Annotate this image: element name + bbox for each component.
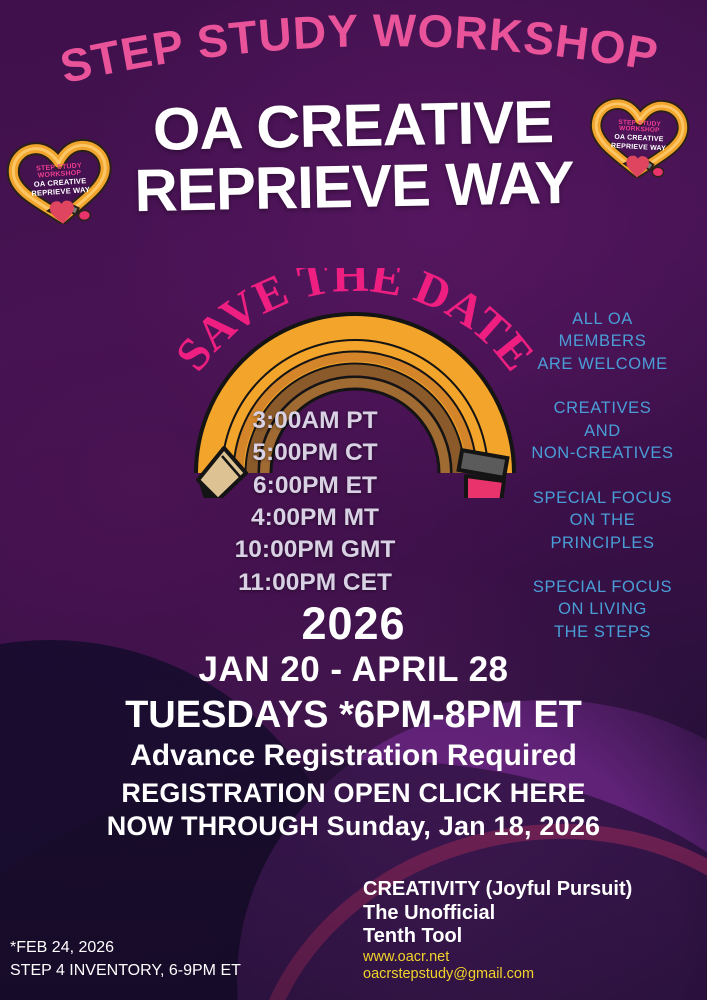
info-line: SPECIAL FOCUS (505, 576, 700, 598)
header-title-text: STEP STUDY WORKSHOP (55, 4, 662, 93)
registration-link[interactable]: REGISTRATION OPEN CLICK HERE (0, 777, 707, 809)
pencil-heart-logo-right-text: STEP STUDY WORKSHOP OA CREATIVE REPRIEVE… (587, 118, 690, 154)
info-block-welcome: ALL OA MEMBERS ARE WELCOME (505, 308, 700, 375)
creativity-tagline-line1: CREATIVITY (Joyful Pursuit) (363, 878, 632, 902)
info-block-principles: SPECIAL FOCUS ON THE PRINCIPLES (505, 487, 700, 554)
info-line: PRINCIPLES (505, 532, 700, 554)
info-line: MEMBERS (505, 330, 700, 352)
timezone-list: 3:00AM PT 5:00PM CT 6:00PM ET 4:00PM MT … (150, 405, 480, 599)
small-heart-icon (626, 155, 650, 178)
info-line: ARE WELCOME (505, 353, 700, 375)
pencil-heart-logo-right: STEP STUDY WORKSHOP OA CREATIVE REPRIEVE… (586, 93, 692, 180)
info-line: NON-CREATIVES (505, 442, 700, 464)
creativity-tagline-line2: The Unofficial (363, 902, 632, 926)
dates-block: 2026 JAN 20 - APRIL 28 TUESDAYS *6PM-8PM… (0, 600, 707, 842)
footnote-block: *FEB 24, 2026 STEP 4 INVENTORY, 6-9PM ET (10, 936, 241, 982)
footnote-line1: *FEB 24, 2026 (10, 936, 241, 959)
info-line: ON THE (505, 509, 700, 531)
contact-block: CREATIVITY (Joyful Pursuit) The Unoffici… (363, 878, 632, 984)
poster-canvas: STEP STUDY WORKSHOP OA CREATIVE REPRIEVE… (0, 0, 707, 1000)
timezone-item: 4:00PM MT (150, 502, 480, 534)
timezone-item: 10:00PM GMT (150, 534, 480, 566)
info-line: CREATIVES (505, 397, 700, 419)
email-link[interactable]: oacrstepstudy@gmail.com (363, 966, 632, 984)
pencil-heart-logo-left: STEP STUDY WORKSHOP OA CREATIVE REPRIEVE… (3, 134, 117, 227)
info-line: AND (505, 420, 700, 442)
timezone-item: 11:00PM CET (150, 567, 480, 599)
year-label: 2026 (0, 600, 707, 647)
advance-registration-label: Advance Registration Required (0, 738, 707, 774)
website-link[interactable]: www.oacr.net (363, 949, 632, 967)
weekday-time-label: TUESDAYS *6PM-8PM ET (0, 695, 707, 737)
timezone-item: 6:00PM ET (150, 470, 480, 502)
registration-deadline-label: NOW THROUGH Sunday, Jan 18, 2026 (0, 810, 707, 842)
small-heart-icon (49, 200, 75, 225)
timezone-item: 5:00PM CT (150, 437, 480, 469)
info-line: ALL OA (505, 308, 700, 330)
info-block-creatives: CREATIVES AND NON-CREATIVES (505, 397, 700, 464)
date-range-label: JAN 20 - APRIL 28 (0, 649, 707, 690)
header-title-curved: STEP STUDY WORKSHOP (0, 0, 707, 96)
info-line: SPECIAL FOCUS (505, 487, 700, 509)
timezone-item: 3:00AM PT (150, 405, 480, 437)
footnote-line2: STEP 4 INVENTORY, 6-9PM ET (10, 959, 241, 982)
creativity-tagline-line3: Tenth Tool (363, 925, 632, 949)
